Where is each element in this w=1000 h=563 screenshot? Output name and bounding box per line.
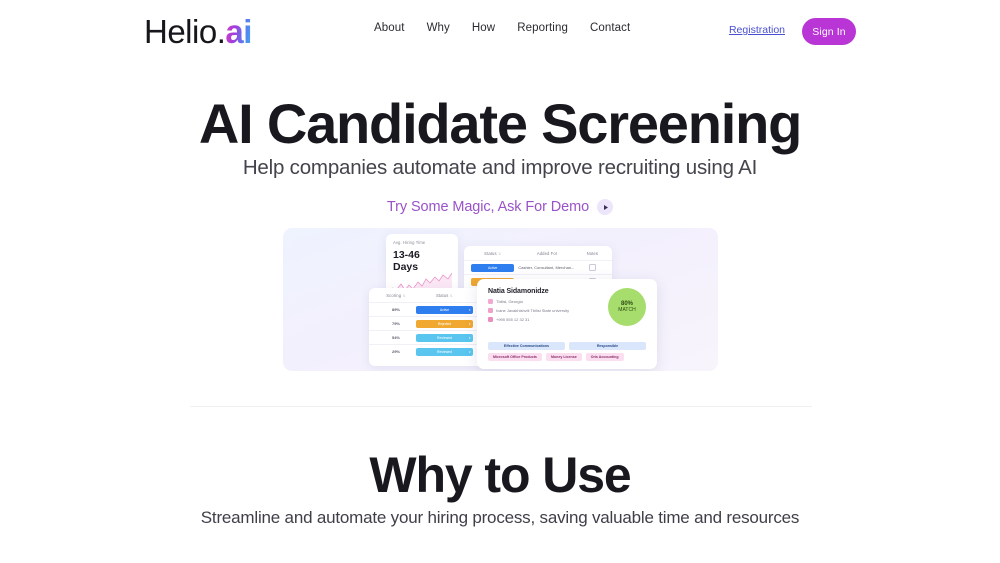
nav-item-how[interactable]: How xyxy=(472,22,495,34)
sort-icon[interactable]: ⇅ xyxy=(450,294,453,298)
status-table-col-notes: Notes xyxy=(587,251,598,256)
nav-item-about[interactable]: About xyxy=(374,22,405,34)
why-section-subtitle: Streamline and automate your hiring proc… xyxy=(0,506,1000,529)
candidate-card[interactable]: Natia Sidamonidze Tbilisi, Georgia Ivane… xyxy=(477,279,657,369)
landing-page: Helio.ai About Why How Reporting Contact… xyxy=(0,0,1000,563)
hero-subtitle: Help companies automate and improve recr… xyxy=(0,155,1000,181)
why-section-title: Why to Use xyxy=(0,446,1000,504)
avg-hiring-time-card: Avg. Hiring Time 13-46 Days xyxy=(386,234,458,296)
avg-hiring-time-value: 13-46 xyxy=(393,249,451,261)
nav-item-contact[interactable]: Contact xyxy=(590,22,630,34)
status-pill[interactable]: Rejected▾ xyxy=(416,320,473,328)
nav-item-why[interactable]: Why xyxy=(427,22,450,34)
table-row[interactable]: Active Cashier, Consultant, Merchan... xyxy=(464,260,612,274)
match-label: MATCH xyxy=(618,307,635,313)
status-pill[interactable]: Active▾ xyxy=(416,306,473,314)
status-pill[interactable]: Active xyxy=(471,264,514,272)
status-pill[interactable]: Reviewed▾ xyxy=(416,334,473,342)
candidate-tags-secondary: Microsoft Office Products Money License … xyxy=(488,353,646,361)
score-cell: 79% xyxy=(376,321,416,326)
candidate-tags-primary: Effective Communications Responsible xyxy=(488,342,646,350)
status-table-col-status: Status xyxy=(484,251,496,256)
score-cell: 29% xyxy=(376,349,416,354)
hero-dashboard-image: Avg. Hiring Time 13-46 Days Status ⇅ Add… xyxy=(283,228,718,371)
phone-icon xyxy=(488,317,493,322)
candidate-education-text: Ivane Javakhishvili Tbilisi State univer… xyxy=(496,308,569,313)
graduation-cap-icon xyxy=(488,308,493,313)
status-table-header: Status ⇅ Added For Notes xyxy=(464,251,612,260)
skill-tag[interactable]: Microsoft Office Products xyxy=(488,353,542,361)
hero-title: AI Candidate Screening xyxy=(0,92,1000,156)
location-pin-icon xyxy=(488,299,493,304)
status-pill[interactable]: Reviewed▾ xyxy=(416,348,473,356)
brand-logo-text: Helio. xyxy=(144,13,225,50)
site-header: Helio.ai About Why How Reporting Contact… xyxy=(0,0,1000,62)
avg-hiring-time-label: Avg. Hiring Time xyxy=(393,240,451,245)
added-for-cell: Cashier, Consultant, Merchan... xyxy=(514,265,579,270)
section-divider xyxy=(190,406,812,407)
brand-logo[interactable]: Helio.ai xyxy=(144,13,252,51)
status-table-col-addedfor: Added For xyxy=(537,251,557,256)
sort-icon[interactable]: ⇅ xyxy=(403,294,406,298)
registration-link[interactable]: Registration xyxy=(729,24,785,36)
skill-tag[interactable]: Responsible xyxy=(569,342,646,350)
candidate-location-text: Tbilisi, Georgia xyxy=(496,299,523,304)
brand-logo-accent: ai xyxy=(225,13,252,50)
notes-checkbox[interactable] xyxy=(589,264,596,271)
score-cell: 54% xyxy=(376,335,416,340)
scoring-table-col-status: Status xyxy=(436,293,448,298)
skill-tag[interactable]: Money License xyxy=(546,353,582,361)
scoring-table-col-scoring: Scoring xyxy=(386,293,401,298)
match-score-badge: 80% MATCH xyxy=(608,288,646,326)
candidate-tags: Effective Communications Responsible Mic… xyxy=(488,339,646,361)
score-cell: 89% xyxy=(376,307,416,312)
sign-in-button[interactable]: Sign In xyxy=(802,18,856,45)
skill-tag[interactable]: Effective Communications xyxy=(488,342,565,350)
play-icon[interactable] xyxy=(597,199,613,215)
demo-cta-label: Try Some Magic, Ask For Demo xyxy=(387,199,589,215)
candidate-phone-text: +995 555 12 32 31 xyxy=(496,317,529,322)
main-navigation: About Why How Reporting Contact xyxy=(374,22,630,34)
skill-tag[interactable]: Oris Accounting xyxy=(586,353,624,361)
demo-cta[interactable]: Try Some Magic, Ask For Demo xyxy=(0,199,1000,215)
nav-item-reporting[interactable]: Reporting xyxy=(517,22,568,34)
sort-icon[interactable]: ⇅ xyxy=(498,252,501,256)
